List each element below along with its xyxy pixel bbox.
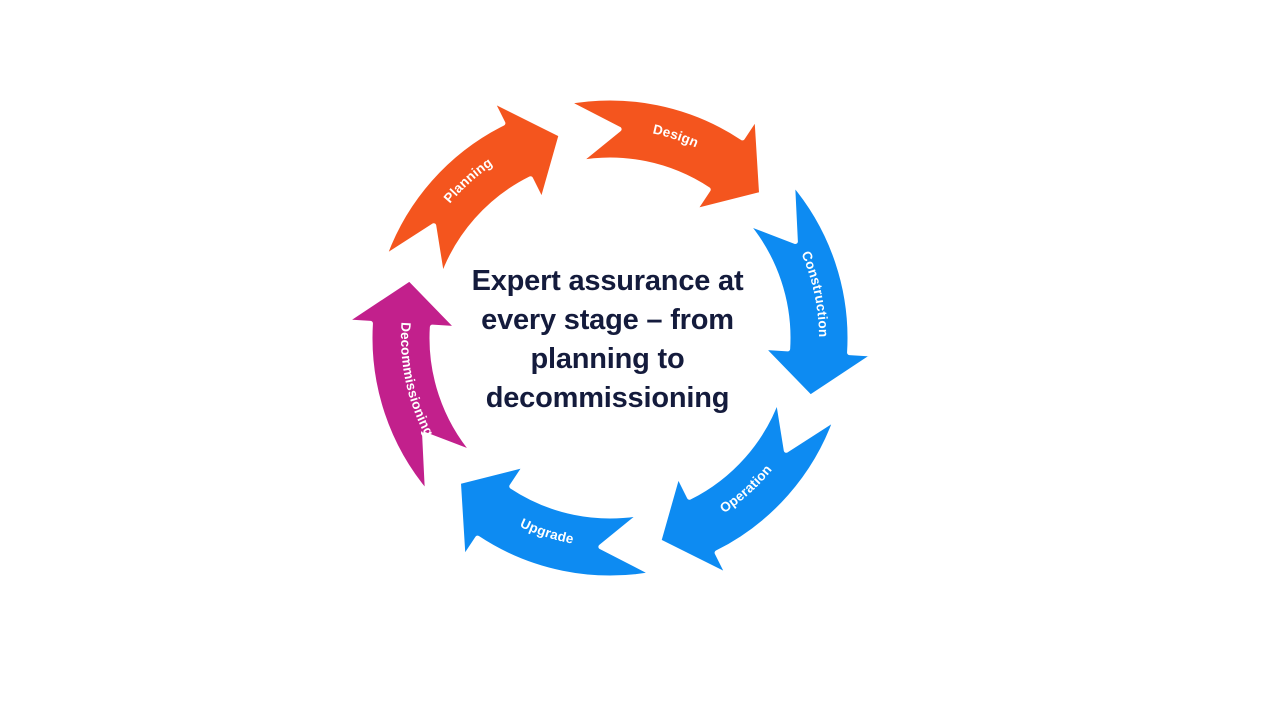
diagram-canvas: PlanningDesignConstructionOperationUpgra… [0,0,1280,720]
center-statement-line: planning to [455,340,760,379]
center-statement-line: Expert assurance at [455,262,760,301]
cycle-segment-planning[interactable] [384,100,561,279]
cycle-segment-upgrade[interactable] [458,465,653,578]
center-statement: Expert assurance atevery stage – frompla… [455,262,760,418]
center-statement-line: every stage – from [455,301,760,340]
center-statement-line: decommissioning [455,379,760,418]
cycle-segment-design[interactable] [566,98,761,211]
